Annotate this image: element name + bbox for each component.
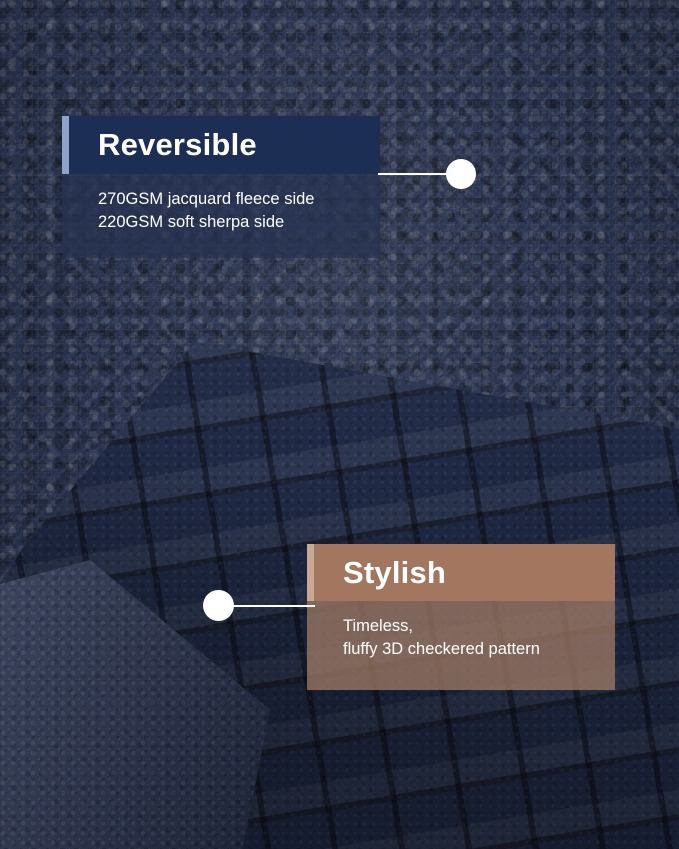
- callout-reversible-accent-bar: [62, 116, 69, 174]
- callout-reversible-body-panel: 270GSM jacquard fleece side 220GSM soft …: [62, 174, 380, 258]
- callout-reversible: Reversible 270GSM jacquard fleece side 2…: [62, 116, 380, 258]
- callout-stylish-header: Stylish: [307, 544, 615, 601]
- callout-reversible-heading: Reversible: [98, 127, 257, 163]
- callout-reversible-body-text: 270GSM jacquard fleece side 220GSM soft …: [98, 188, 380, 235]
- product-feature-image: Reversible 270GSM jacquard fleece side 2…: [0, 0, 679, 849]
- callout-stylish-heading: Stylish: [343, 555, 446, 591]
- callout-stylish-body-text: Timeless, fluffy 3D checkered pattern: [343, 615, 615, 662]
- stylish-connector: [203, 590, 313, 622]
- callout-stylish: Stylish Timeless, fluffy 3D checkered pa…: [307, 544, 615, 690]
- callout-reversible-header: Reversible: [62, 116, 380, 174]
- reversible-connector: [378, 166, 478, 182]
- callout-stylish-body-panel: Timeless, fluffy 3D checkered pattern: [307, 601, 615, 690]
- leader-line: [229, 605, 315, 607]
- leader-line: [378, 173, 456, 175]
- dot-marker-icon: [203, 590, 234, 621]
- dot-marker-icon: [446, 159, 476, 189]
